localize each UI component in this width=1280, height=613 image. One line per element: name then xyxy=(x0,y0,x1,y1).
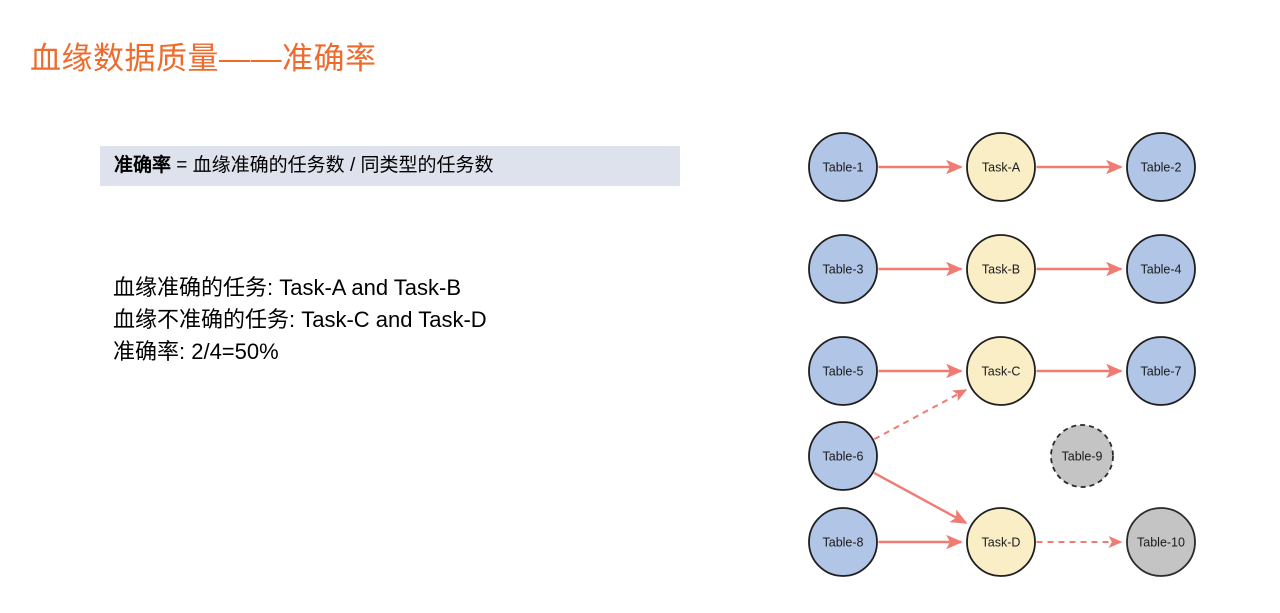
node-circle xyxy=(1127,235,1195,303)
graph-node-table-9[interactable]: Table-9 xyxy=(1051,425,1113,487)
node-circle xyxy=(967,508,1035,576)
graph-node-task-d[interactable]: Task-D xyxy=(967,508,1035,576)
node-circle xyxy=(967,337,1035,405)
lineage-graph: Table-1Task-ATable-2Table-3Task-BTable-4… xyxy=(780,100,1240,600)
lineage-edge xyxy=(874,473,966,523)
node-circle xyxy=(809,422,877,490)
body-line-inaccurate-tasks: 血缘不准确的任务: Task-C and Task-D xyxy=(113,304,487,336)
node-circle xyxy=(809,235,877,303)
page-title: 血缘数据质量——准确率 xyxy=(30,37,377,81)
node-circle xyxy=(967,133,1035,201)
graph-node-table-5[interactable]: Table-5 xyxy=(809,337,877,405)
graph-node-table-8[interactable]: Table-8 xyxy=(809,508,877,576)
node-circle xyxy=(1127,133,1195,201)
graph-node-task-b[interactable]: Task-B xyxy=(967,235,1035,303)
graph-node-table-10[interactable]: Table-10 xyxy=(1127,508,1195,576)
formula-right-side: = 血缘准确的任务数 / 同类型的任务数 xyxy=(171,155,494,176)
graph-node-table-2[interactable]: Table-2 xyxy=(1127,133,1195,201)
node-circle xyxy=(967,235,1035,303)
formula-left-side: 准确率 xyxy=(114,155,171,176)
formula-banner: 准确率 = 血缘准确的任务数 / 同类型的任务数 xyxy=(100,146,680,186)
graph-node-table-6[interactable]: Table-6 xyxy=(809,422,877,490)
graph-node-table-3[interactable]: Table-3 xyxy=(809,235,877,303)
lineage-graph-canvas: Table-1Task-ATable-2Table-3Task-BTable-4… xyxy=(780,100,1240,600)
node-circle xyxy=(1127,337,1195,405)
lineage-edge-dashed xyxy=(874,390,966,439)
node-layer: Table-1Task-ATable-2Table-3Task-BTable-4… xyxy=(809,133,1195,576)
body-text-block: 血缘准确的任务: Task-A and Task-B 血缘不准确的任务: Tas… xyxy=(113,272,487,368)
graph-node-table-1[interactable]: Table-1 xyxy=(809,133,877,201)
graph-node-task-c[interactable]: Task-C xyxy=(967,337,1035,405)
graph-node-table-7[interactable]: Table-7 xyxy=(1127,337,1195,405)
node-circle xyxy=(809,337,877,405)
body-line-accurate-tasks: 血缘准确的任务: Task-A and Task-B xyxy=(113,272,487,304)
node-circle xyxy=(809,508,877,576)
node-circle xyxy=(1051,425,1113,487)
graph-node-task-a[interactable]: Task-A xyxy=(967,133,1035,201)
body-line-accuracy-rate: 准确率: 2/4=50% xyxy=(113,336,487,368)
node-circle xyxy=(1127,508,1195,576)
graph-node-table-4[interactable]: Table-4 xyxy=(1127,235,1195,303)
node-circle xyxy=(809,133,877,201)
formula-text: 准确率 = 血缘准确的任务数 / 同类型的任务数 xyxy=(100,155,494,177)
